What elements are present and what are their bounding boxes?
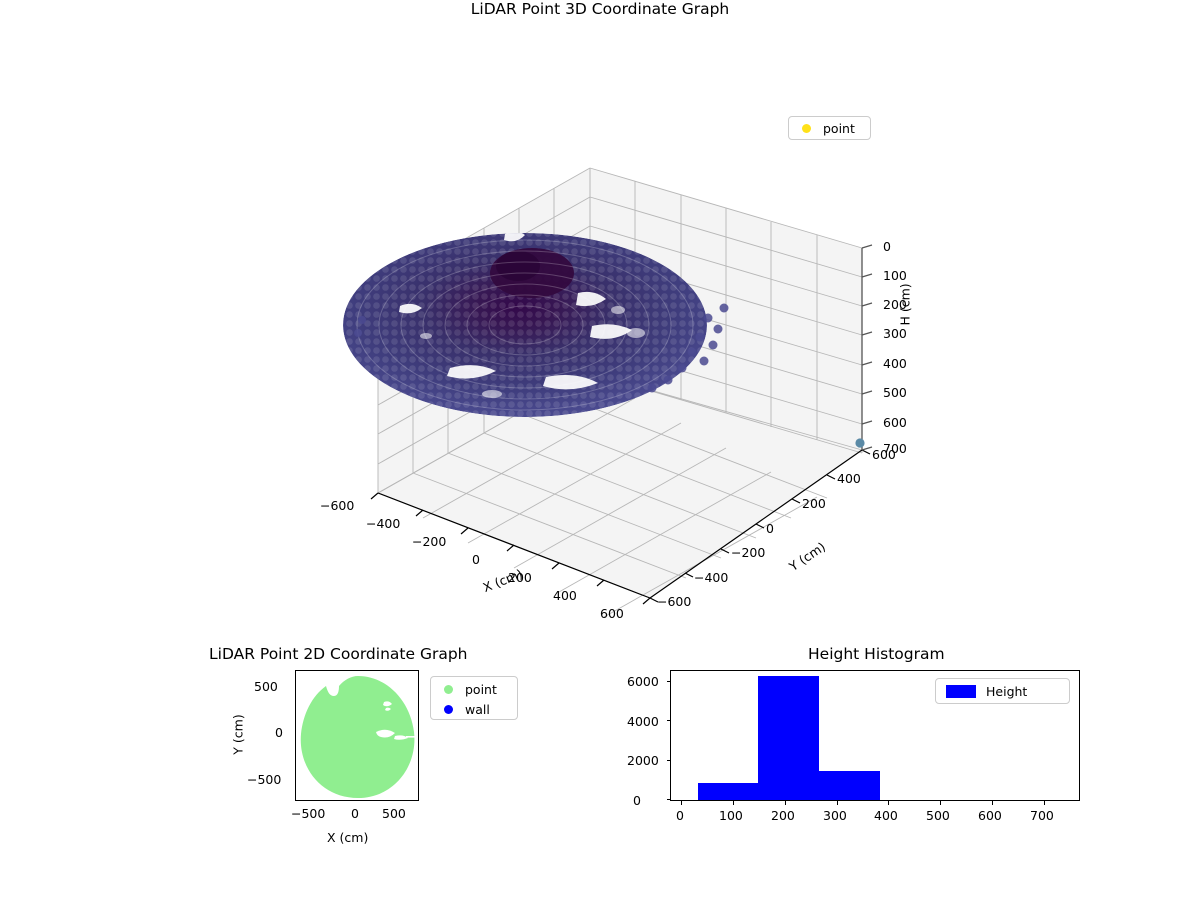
- axis-label-2d-y: Y (cm): [231, 714, 246, 754]
- panel-hist-title: Height Histogram: [808, 645, 945, 663]
- tick-3d-x-5: 400: [553, 588, 577, 603]
- hist-bar-1: [758, 676, 819, 800]
- tick-2d-x-2: 500: [382, 806, 406, 821]
- tick-3d-z-3: 300: [883, 326, 907, 341]
- tickmark-hist-x-200: [785, 801, 786, 805]
- tick-hist-y-0: 0: [633, 793, 641, 808]
- tick-hist-y-2: 4000: [627, 714, 659, 729]
- tick-hist-x-0: 0: [676, 808, 684, 823]
- figure-canvas: LiDAR Point 3D Coordinate Graph point: [0, 0, 1200, 900]
- tick-3d-x-2: −200: [412, 534, 446, 549]
- legend-hist: Height: [935, 678, 1070, 704]
- tick-3d-y-4: 200: [802, 496, 826, 511]
- panel-2d-title: LiDAR Point 2D Coordinate Graph: [209, 645, 467, 663]
- tickmark-hist-x-100: [733, 801, 734, 805]
- tick-hist-x-6: 600: [978, 808, 1002, 823]
- plot-hist-axes[interactable]: Height: [670, 670, 1080, 801]
- tickmark-hist-x-600: [992, 801, 993, 805]
- tick-3d-z-5: 500: [883, 385, 907, 400]
- tick-hist-x-5: 500: [926, 808, 950, 823]
- tick-3d-z-1: 100: [883, 268, 907, 283]
- tickmark-hist-y-4000: [667, 720, 671, 721]
- axis-label-3d-z: H (cm): [898, 283, 913, 325]
- tick-2d-y-1: 0: [275, 725, 283, 740]
- tickmark-2d-y-0: [295, 734, 296, 735]
- wall-marker-icon: [431, 705, 465, 714]
- tickmark-hist-x-0: [681, 801, 682, 805]
- axis-label-2d-x: X (cm): [327, 830, 368, 845]
- point-marker-icon: [431, 685, 465, 694]
- hist-bar-2: [819, 771, 880, 800]
- legend-2d-label-wall: wall: [465, 702, 490, 717]
- legend-hist-entry-height: Height: [936, 681, 1069, 701]
- tick-3d-y-1: −400: [694, 570, 728, 585]
- tickmark-hist-x-700: [1044, 801, 1045, 805]
- tick-2d-y-2: −500: [247, 772, 281, 787]
- tick-3d-x-0: −600: [320, 498, 354, 513]
- tickmark-hist-y-0: [667, 799, 671, 800]
- legend-2d: point wall: [430, 676, 518, 720]
- tick-3d-z-4: 400: [883, 356, 907, 371]
- tick-2d-x-1: 0: [351, 806, 359, 821]
- legend-hist-label-height: Height: [986, 684, 1027, 699]
- tickmark-hist-x-500: [940, 801, 941, 805]
- tickmark-2d-y-500: [295, 688, 296, 689]
- plot-3d-canvas: [300, 130, 920, 630]
- tick-hist-x-1: 100: [719, 808, 743, 823]
- tickmark-2d-y-m500: [295, 781, 296, 782]
- tick-3d-y-2: −200: [731, 545, 765, 560]
- tick-hist-x-2: 200: [771, 808, 795, 823]
- legend-2d-entry-point: point: [431, 679, 517, 699]
- tick-hist-y-1: 2000: [627, 753, 659, 768]
- tick-3d-x-3: 0: [472, 552, 480, 567]
- tickmark-hist-y-6000: [667, 681, 671, 682]
- tick-2d-y-0: 500: [254, 679, 278, 694]
- tick-hist-x-7: 700: [1030, 808, 1054, 823]
- hist-bar-0: [698, 783, 758, 800]
- scatter-2d-points: [298, 674, 418, 800]
- tick-3d-x-1: −400: [366, 516, 400, 531]
- tick-3d-z-0: 0: [883, 239, 891, 254]
- tickmark-hist-y-2000: [667, 760, 671, 761]
- tick-hist-y-3: 6000: [627, 674, 659, 689]
- legend-2d-label-point: point: [465, 682, 497, 697]
- tick-3d-x-6: 600: [600, 606, 624, 621]
- panel-3d-title: LiDAR Point 3D Coordinate Graph: [0, 0, 1200, 18]
- tick-3d-z-6: 600: [883, 415, 907, 430]
- plot-2d-axes[interactable]: [295, 670, 419, 801]
- tick-hist-x-3: 300: [823, 808, 847, 823]
- tick-3d-z-7: 700: [883, 441, 907, 456]
- tick-2d-x-0: −500: [291, 806, 325, 821]
- tick-3d-y-0: −600: [657, 594, 691, 609]
- tick-3d-y-5: 400: [837, 471, 861, 486]
- outlier-point-marker: [855, 438, 864, 447]
- tickmark-hist-x-300: [837, 801, 838, 805]
- tickmark-hist-x-400: [888, 801, 889, 805]
- height-patch-icon: [936, 685, 986, 698]
- tick-3d-y-3: 0: [766, 521, 774, 536]
- legend-2d-entry-wall: wall: [431, 699, 517, 719]
- plot-3d-axes[interactable]: −600 −400 −200 0 200 400 600 X (cm) −600…: [300, 130, 920, 630]
- tick-hist-x-4: 400: [874, 808, 898, 823]
